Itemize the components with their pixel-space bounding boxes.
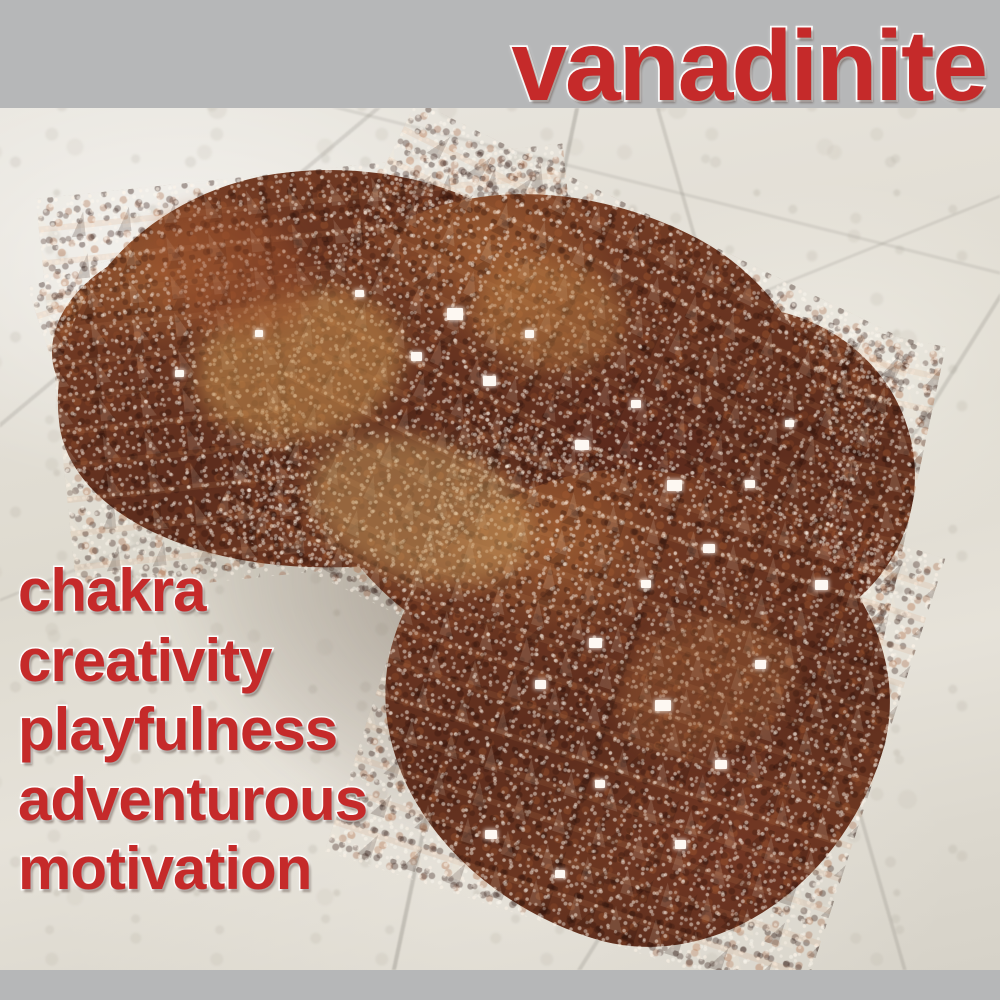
keyword-adventurous: adventurous xyxy=(18,765,367,835)
keyword-list: chakra creativity playfulness adventurou… xyxy=(18,556,367,904)
crystal-highlight xyxy=(255,330,263,337)
crystal-highlight xyxy=(675,840,686,849)
crystal-highlight xyxy=(483,376,496,386)
keyword-chakra: chakra xyxy=(18,556,367,626)
crystal-highlight xyxy=(631,400,641,408)
image-canvas: vanadinite chakra creativity playfulness… xyxy=(0,0,1000,1000)
crystal-highlight xyxy=(745,480,755,488)
crystal-highlight xyxy=(715,760,727,769)
crystal-highlight xyxy=(641,580,651,588)
crystal-highlight xyxy=(589,638,602,648)
crystal-highlight xyxy=(535,680,546,689)
crystal-highlight xyxy=(667,480,682,491)
crystal-highlight xyxy=(175,370,184,377)
crystal-highlight xyxy=(485,830,497,839)
crystal-highlight xyxy=(555,870,565,878)
crystal-highlight xyxy=(447,308,463,320)
crystal-highlight xyxy=(575,440,589,450)
keyword-motivation: motivation xyxy=(18,834,367,904)
keyword-playfulness: playfulness xyxy=(18,695,367,765)
crystal-highlight xyxy=(525,330,534,338)
crystal-highlight xyxy=(355,290,364,297)
page-title: vanadinite xyxy=(511,16,986,116)
crystal-highlight xyxy=(785,420,794,427)
crystal-highlight xyxy=(595,780,605,788)
crystal-highlight xyxy=(815,580,828,590)
letterbox-band-bottom xyxy=(0,970,1000,1000)
crystal-highlight xyxy=(755,660,766,669)
crystal-highlight xyxy=(411,352,422,361)
crystal-highlight xyxy=(703,544,715,553)
keyword-creativity: creativity xyxy=(18,626,367,696)
crystal-highlight xyxy=(655,700,671,711)
